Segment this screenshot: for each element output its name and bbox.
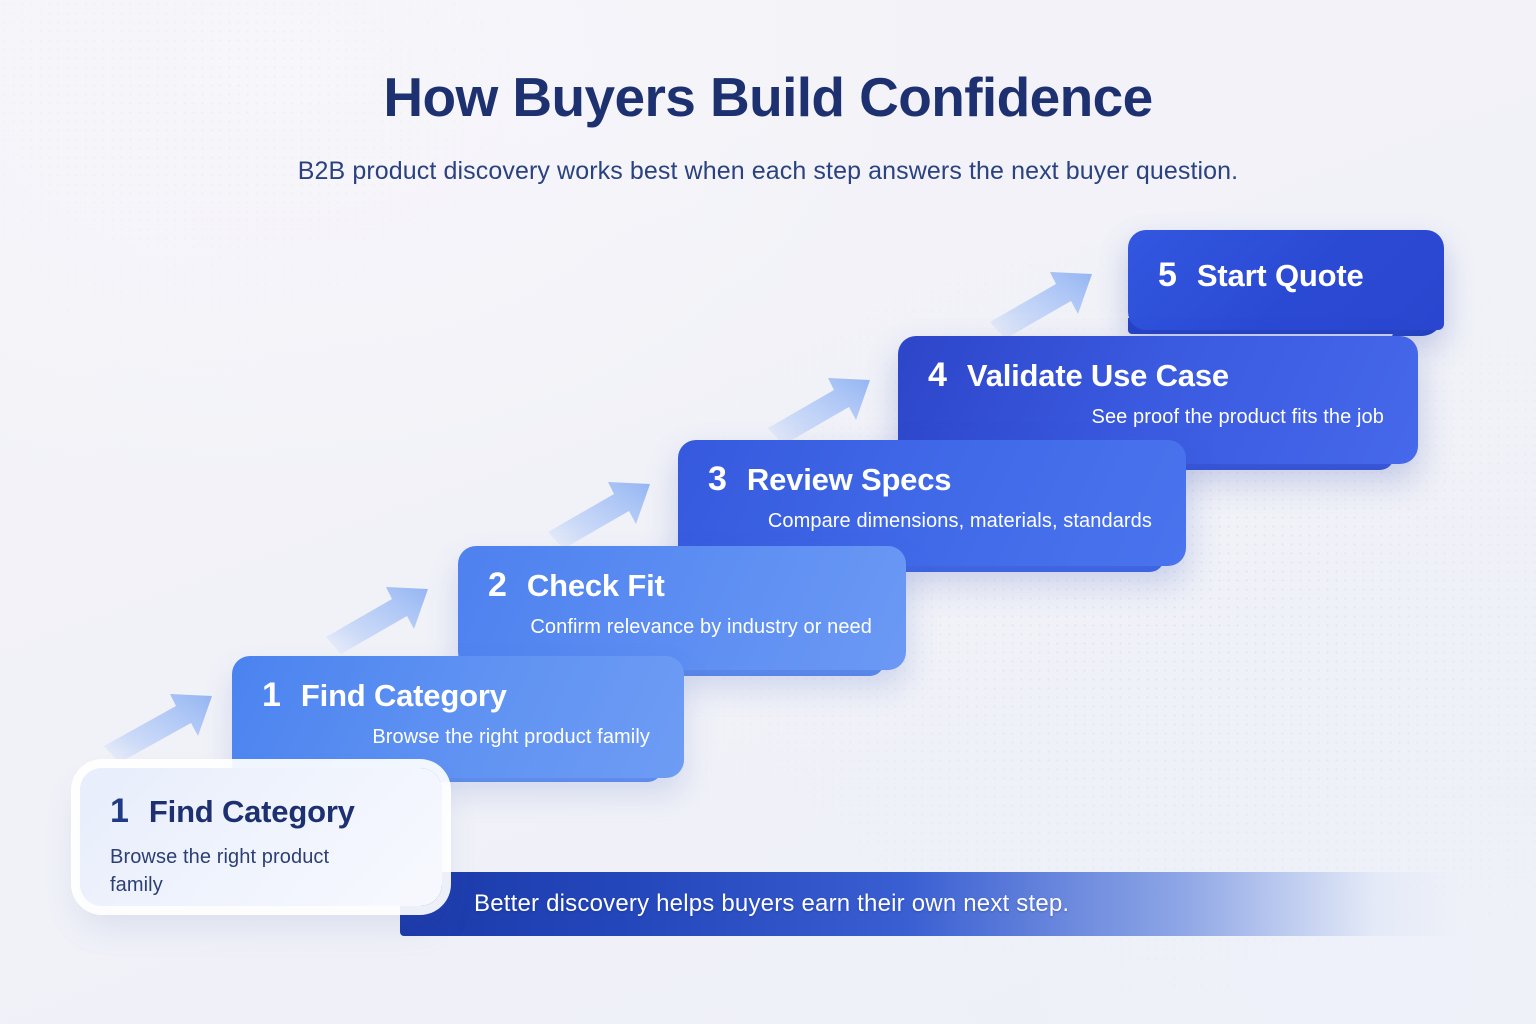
summary-banner-text: Better discovery helps buyers earn their…: [474, 890, 1069, 918]
progress-arrow: [104, 694, 212, 763]
step-title-1-light: Find Category: [149, 796, 355, 827]
step-card-5[interactable]: 5 Start Quote: [1128, 230, 1444, 330]
step-title-3: Review Specs: [747, 464, 951, 495]
step-title-2: Check Fit: [527, 570, 665, 601]
step-number-5: 5: [1158, 258, 1177, 292]
step-number-1-light: 1: [110, 794, 129, 828]
step-description-1-blue: Browse the right product family: [262, 726, 654, 749]
step-description-4: See proof the product fits the job: [928, 406, 1388, 429]
summary-banner: Better discovery helps buyers earn their…: [400, 872, 1460, 936]
progress-arrow: [326, 587, 428, 654]
infographic-canvas: How Buyers Build Confidence B2B product …: [0, 0, 1536, 1024]
step-title-1-blue: Find Category: [301, 680, 507, 711]
progress-arrow: [548, 482, 650, 549]
step-number-1-blue: 1: [262, 678, 281, 712]
step-title-4: Validate Use Case: [967, 360, 1229, 391]
step-card-1-light[interactable]: 1 Find Category Browse the right product…: [80, 768, 442, 906]
step-title-5: Start Quote: [1197, 260, 1364, 291]
step-card-2[interactable]: 2 Check Fit Confirm relevance by industr…: [458, 546, 906, 670]
step-number-3: 3: [708, 462, 727, 496]
progress-arrow: [990, 272, 1092, 339]
step-number-4: 4: [928, 358, 947, 392]
step-number-2: 2: [488, 568, 507, 602]
step-description-2: Confirm relevance by industry or need: [488, 616, 876, 639]
step-card-1-blue[interactable]: 1 Find Category Browse the right product…: [232, 656, 684, 778]
progress-arrow: [768, 378, 870, 445]
step-description-3: Compare dimensions, materials, standards: [708, 510, 1156, 533]
step-description-1-light: Browse the right product family: [110, 844, 342, 899]
